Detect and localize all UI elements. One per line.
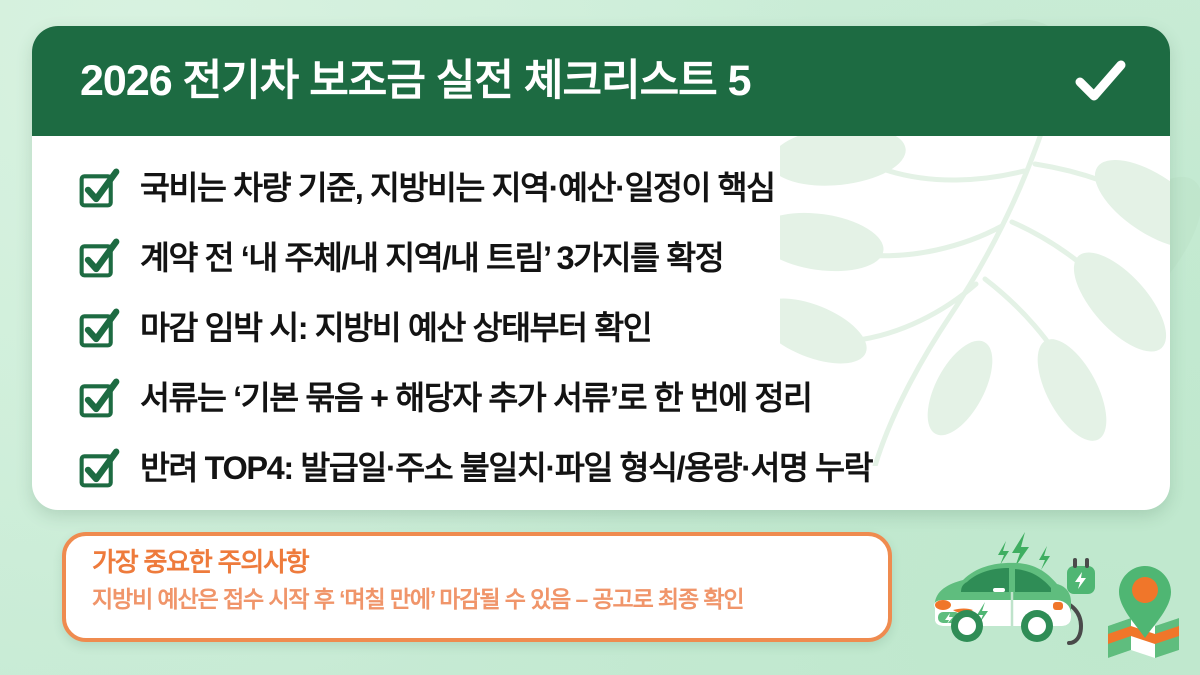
important-notice-box: 가장 중요한 주의사항 지방비 예산은 접수 시작 후 ‘며칠 만에’ 마감될 … [62,532,892,642]
notice-body: 지방비 예산은 접수 시작 후 ‘며칠 만에’ 마감될 수 있음 – 공고로 최… [92,586,864,612]
checklist-item-label: 국비는 차량 기준, 지방비는 지역·예산·일정이 핵심 [140,171,775,207]
checklist-item-4[interactable]: 서류는 ‘기본 묶음 + 해당자 추가 서류’로 한 번에 정리 [78,368,1146,430]
checklist-item-label: 반려 TOP4: 발급일·주소 불일치·파일 형식/용량·서명 누락 [140,451,872,487]
white-check-icon [1070,51,1130,111]
page-title: 2026 전기차 보조금 실전 체크리스트 5 [80,60,751,103]
checklist-item-label: 서류는 ‘기본 묶음 + 해당자 추가 서류’로 한 번에 정리 [140,381,812,417]
card-header: 2026 전기차 보조금 실전 체크리스트 5 [32,26,1170,136]
checkbox-checked-icon [78,379,118,419]
charging-plug-icon [1067,558,1095,594]
checklist-card: 2026 전기차 보조금 실전 체크리스트 5 국비는 차량 기준, 지방비는 … [32,26,1170,510]
electric-car-icon [934,563,1071,642]
checklist-item-2[interactable]: 계약 전 ‘내 주체/내 지역/내 트림’ 3가지를 확정 [78,228,1146,290]
checklist-item-label: 계약 전 ‘내 주체/내 지역/내 트림’ 3가지를 확정 [140,241,723,277]
ev-car-charging-illustration [905,522,1195,672]
checkbox-checked-icon [78,309,118,349]
checkbox-checked-icon [78,169,118,209]
checklist-item-1[interactable]: 국비는 차량 기준, 지방비는 지역·예산·일정이 핵심 [78,158,1146,220]
checklist-item-3[interactable]: 마감 임박 시: 지방비 예산 상태부터 확인 [78,298,1146,360]
checkbox-checked-icon [78,449,118,489]
notice-title: 가장 중요한 주의사항 [92,548,864,578]
checklist-item-5[interactable]: 반려 TOP4: 발급일·주소 불일치·파일 형식/용량·서명 누락 [78,438,1146,500]
checkbox-checked-icon [78,239,118,279]
checklist: 국비는 차량 기준, 지방비는 지역·예산·일정이 핵심 계약 전 ‘내 주체/… [32,136,1170,510]
checklist-item-label: 마감 임박 시: 지방비 예산 상태부터 확인 [140,311,651,347]
